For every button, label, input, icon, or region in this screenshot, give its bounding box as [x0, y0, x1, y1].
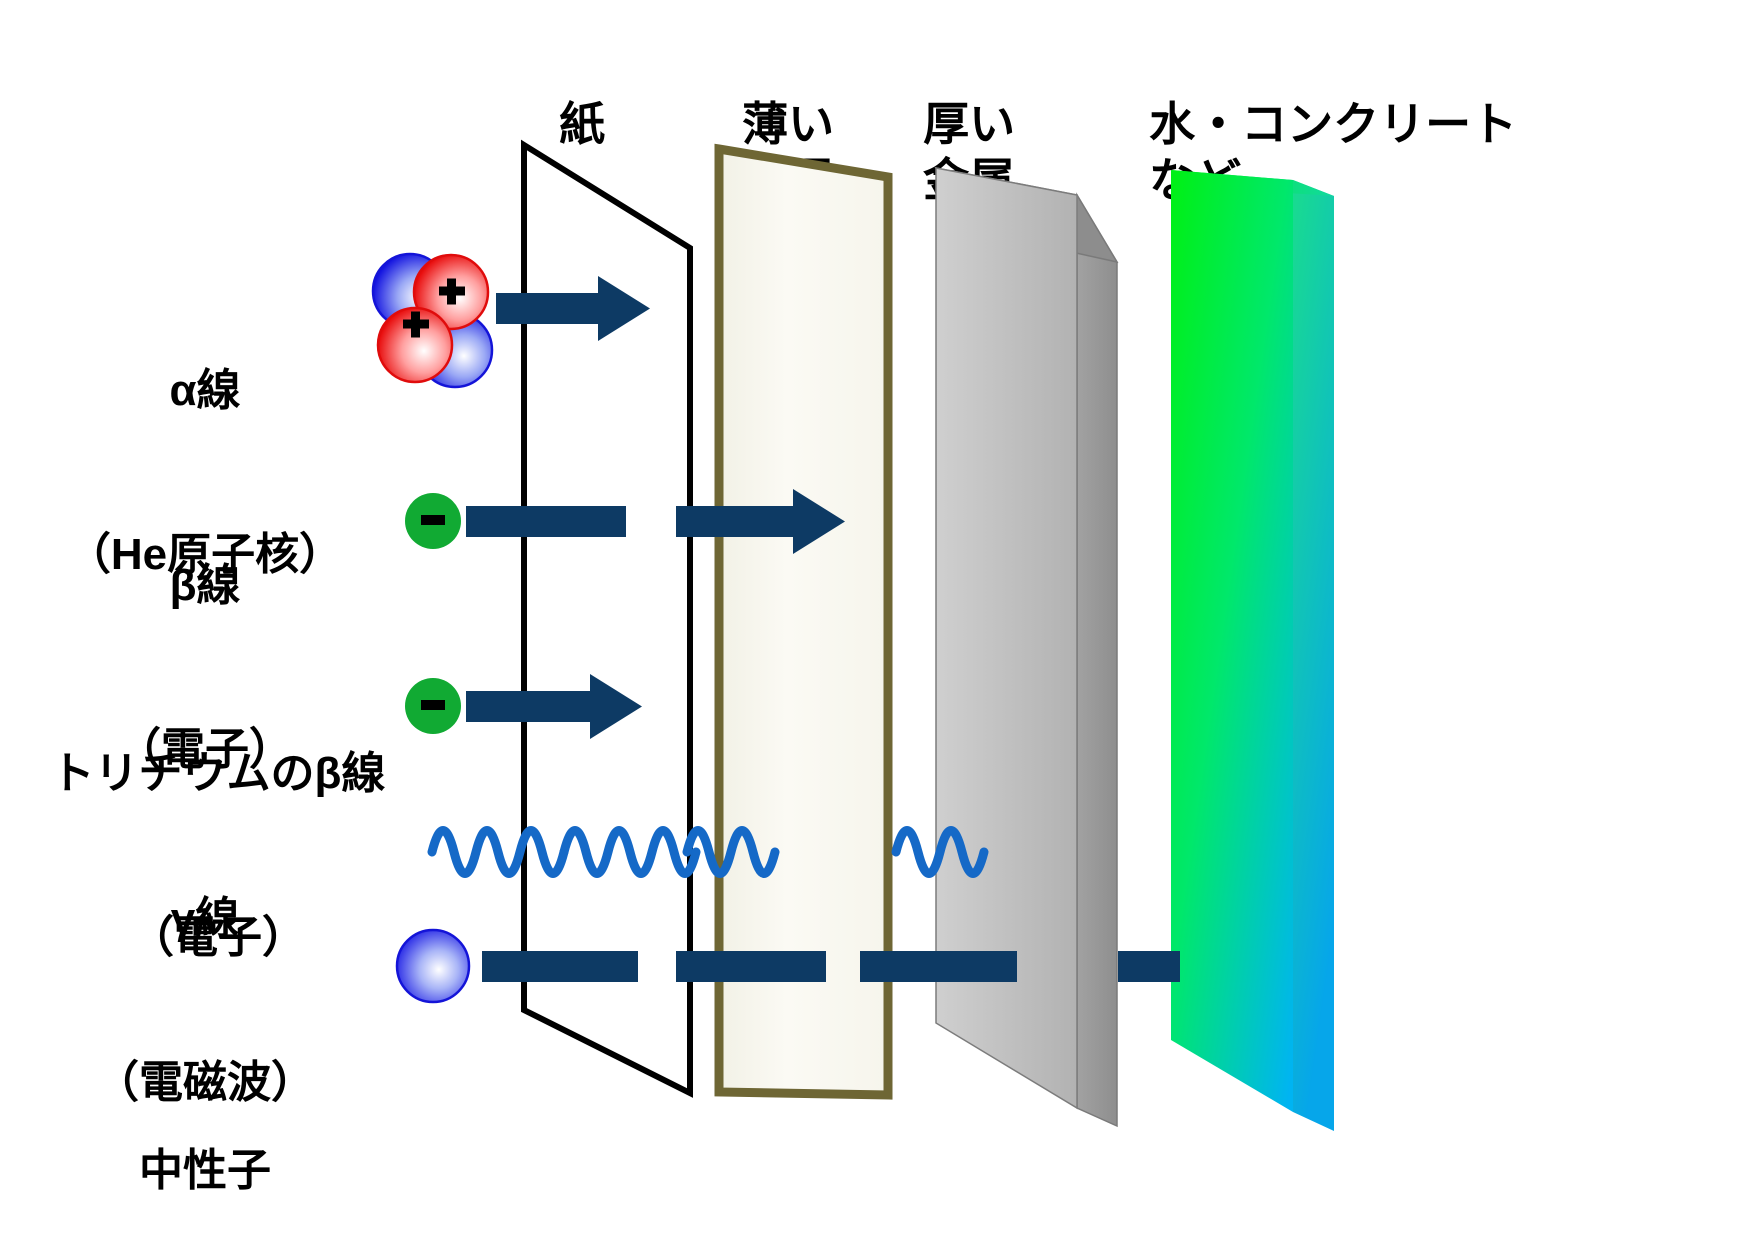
neutron-arrow-shaft-2 — [676, 951, 826, 982]
tritium-beta-particle-electron — [405, 678, 461, 734]
beta-particle-electron — [405, 493, 461, 549]
neutron-arrow-shaft-3 — [860, 951, 1017, 982]
beta-arrow-shaft-1 — [466, 506, 626, 537]
thick-metal-side — [1077, 195, 1117, 1126]
diagram-graphics — [0, 0, 1737, 1257]
ray-gamma — [432, 831, 984, 874]
tritium-beta-arrow-shaft — [466, 691, 598, 722]
alpha-particle-helium-nucleus — [373, 254, 492, 387]
water-concrete-side — [1293, 180, 1334, 1131]
beta-arrow-segment-1 — [466, 506, 626, 537]
beta-arrow-shaft-2 — [676, 506, 802, 537]
tritium-beta-electron-minus-icon — [421, 700, 445, 710]
neutron-arrow-shaft-1 — [482, 951, 638, 982]
barrier-thick-metal — [936, 168, 1117, 1126]
alpha-arrow-shaft — [496, 293, 606, 324]
neutron-particle-sphere — [397, 930, 469, 1002]
water-concrete-face — [1171, 170, 1293, 1112]
neutron-arrow-shaft-4 — [1118, 951, 1180, 982]
radiation-penetration-diagram: 紙 薄い 金属 厚い 金属 水・コンクリート など α線 （He原子核） β線 … — [0, 0, 1737, 1257]
beta-electron-minus-icon — [421, 515, 445, 525]
barrier-water-concrete — [1171, 170, 1334, 1131]
